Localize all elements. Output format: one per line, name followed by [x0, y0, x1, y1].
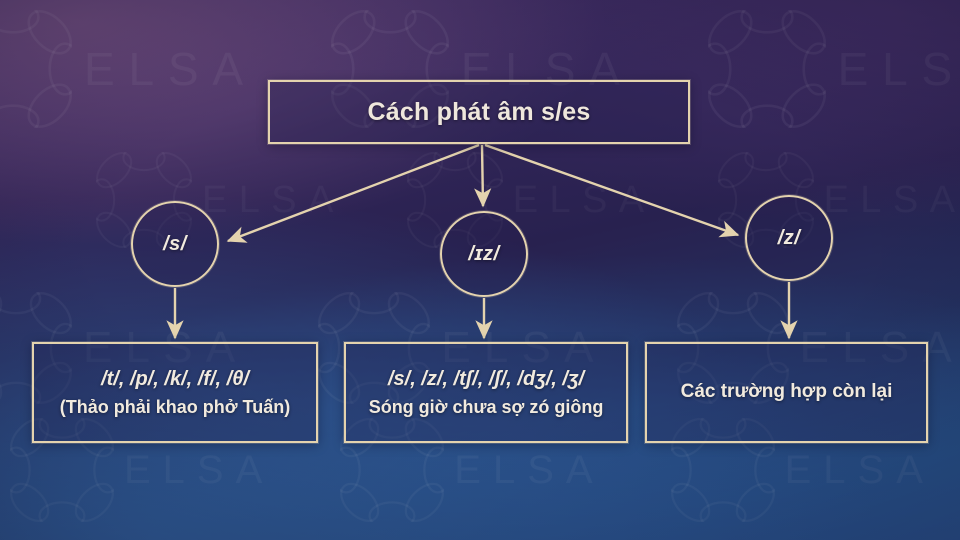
- arrow-title-to-z: [485, 145, 738, 235]
- slide-canvas: ELSAELSAELSAELSAELSAELSAELSAELSAELSAELSA…: [0, 0, 960, 540]
- diagram-title-box: Cách phát âm s/es: [268, 80, 690, 144]
- circle-node-s-label: /s/: [163, 233, 187, 256]
- rule-box-s-mnemonic: (Thảo phải khao phở Tuấn): [60, 394, 290, 421]
- rule-box-iz-mnemonic: Sóng giờ chưa sợ zó giông: [369, 394, 604, 421]
- rule-box-z: Các trường hợp còn lại: [645, 342, 928, 443]
- rule-box-s-phonemes: /t/, /p/, /k/, /f/, /θ/: [101, 365, 249, 394]
- arrow-title-to-iz: [482, 145, 483, 206]
- circle-node-z: /z/: [745, 195, 833, 281]
- circle-node-iz-label: /ɪz/: [468, 243, 499, 266]
- pronunciation-flow-diagram: Cách phát âm s/es /s/ /ɪz/ /z/ /t/, /p/,…: [0, 0, 960, 540]
- arrow-title-to-s: [228, 145, 479, 241]
- circle-node-z-label: /z/: [778, 227, 801, 250]
- rule-box-s: /t/, /p/, /k/, /f/, /θ/ (Thảo phải khao …: [32, 342, 318, 443]
- rule-box-z-mnemonic: Các trường hợp còn lại: [681, 378, 893, 407]
- circle-node-s: /s/: [131, 201, 219, 287]
- page-title: Cách phát âm s/es: [368, 98, 591, 127]
- rule-box-iz-phonemes: /s/, /z/, /tʃ/, /ʃ/, /dʒ/, /ʒ/: [388, 365, 584, 394]
- circle-node-iz: /ɪz/: [440, 211, 528, 297]
- rule-box-iz: /s/, /z/, /tʃ/, /ʃ/, /dʒ/, /ʒ/ Sóng giờ …: [344, 342, 628, 443]
